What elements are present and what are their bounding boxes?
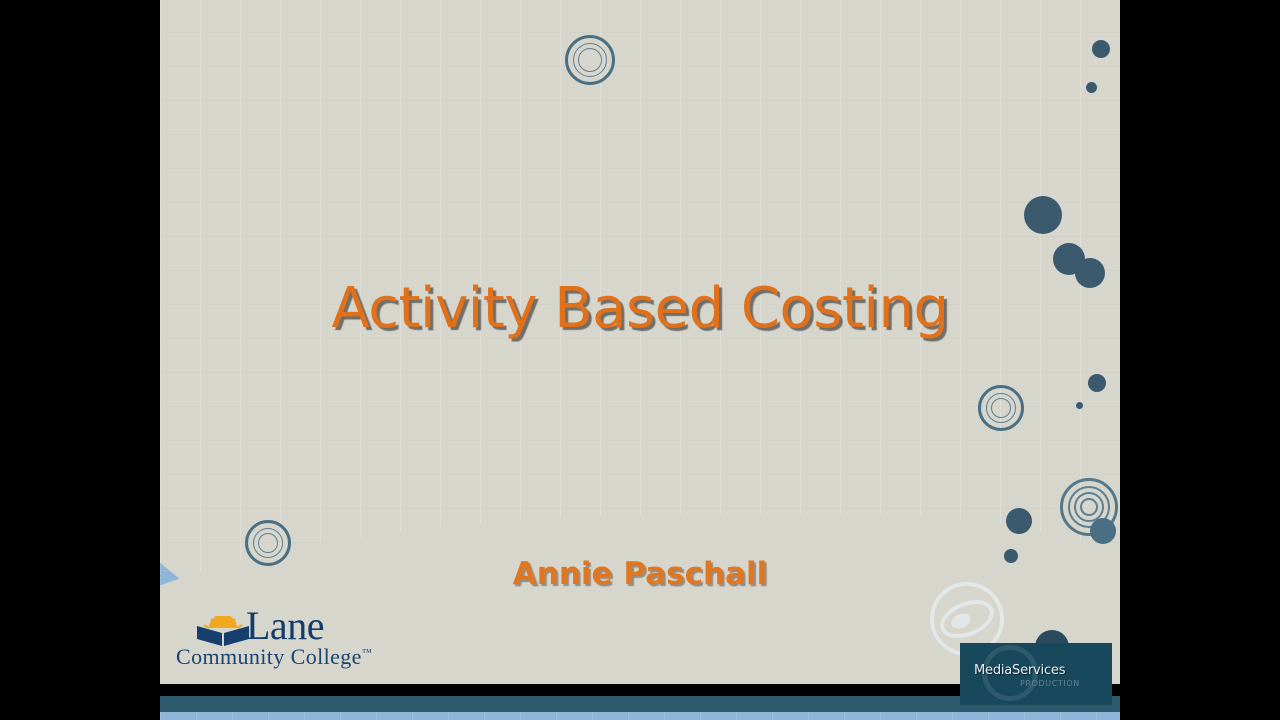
decor-dot	[1088, 374, 1106, 392]
decor-dot	[1086, 82, 1097, 93]
video-player-frame: Activity Based Costing Annie Paschall	[0, 0, 1280, 720]
watermark-sub-label: PRODUCTION	[1020, 679, 1080, 688]
logo-subtitle: Community College™	[176, 644, 372, 670]
logo-subtitle-text: Community College	[176, 644, 362, 669]
open-book-sunburst-icon	[196, 616, 250, 644]
presentation-slide: Activity Based Costing Annie Paschall	[160, 0, 1120, 720]
logo-wordmark: Lane	[246, 606, 324, 646]
slide-subtitle-author: Annie Paschall	[160, 556, 1120, 592]
lane-community-college-logo: Lane Community College™	[172, 608, 372, 670]
decor-dot	[1076, 402, 1083, 409]
watermark-label: MediaServices	[974, 663, 1065, 678]
decor-dot	[1090, 518, 1116, 544]
media-services-watermark: MediaServices PRODUCTION	[960, 643, 1112, 705]
decor-dot	[1092, 40, 1110, 58]
letterbox-bar-right	[1120, 0, 1280, 720]
trademark-symbol: ™	[362, 648, 372, 659]
decor-dot	[1024, 196, 1062, 234]
concentric-ring-icon-top-center	[565, 35, 615, 85]
decor-dot	[1006, 508, 1032, 534]
concentric-ring-icon-mid-right	[978, 385, 1024, 431]
slide-title: Activity Based Costing	[160, 276, 1120, 341]
letterbox-bar-left	[0, 0, 160, 720]
